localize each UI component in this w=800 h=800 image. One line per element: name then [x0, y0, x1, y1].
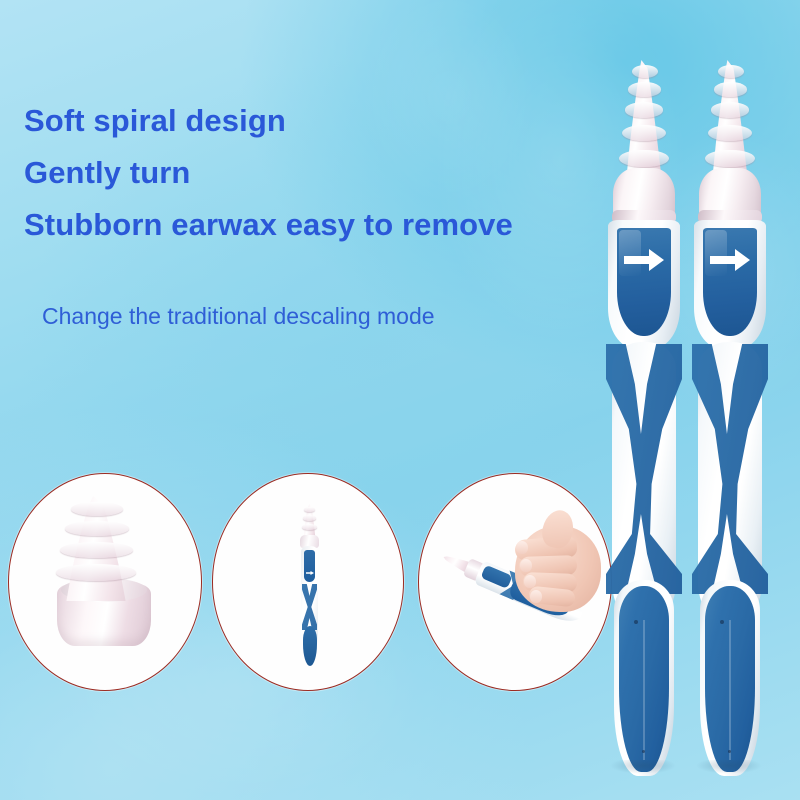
product-unit-left — [598, 60, 690, 760]
headline-block: Soft spiral design Gently turn Stubborn … — [24, 95, 584, 251]
spiral-rib — [56, 564, 136, 581]
tool-drop-shadow — [610, 760, 676, 774]
product-unit-right — [684, 60, 776, 760]
tool-blue-tip — [303, 626, 317, 666]
headline-line-1: Soft spiral design — [24, 95, 584, 147]
right-arrow-icon — [306, 562, 314, 566]
fingernail — [524, 575, 536, 588]
surface-speck — [634, 620, 638, 624]
spiral-rib — [628, 82, 661, 96]
spiral-rib — [71, 502, 123, 516]
inset-photo-hand-holding-tool — [418, 473, 612, 691]
surface-speck — [642, 750, 645, 753]
spiral-rib — [622, 125, 666, 142]
inset-photo-spiral-tip-closeup — [8, 473, 202, 691]
headline-line-3: Stubborn earwax easy to remove — [24, 199, 584, 251]
spiral-tip-icon — [708, 60, 752, 178]
spiral-rib — [65, 521, 129, 536]
spiral-tip-icon — [303, 504, 316, 538]
spiral-rib — [705, 150, 754, 168]
spiral-rib — [718, 65, 744, 78]
spiral-tip-icon — [622, 60, 666, 178]
inset-1-content — [9, 474, 201, 690]
surface-speck — [720, 620, 724, 624]
inset-3-content — [419, 474, 611, 690]
full-tool-illustration — [294, 504, 324, 664]
fingernail — [520, 559, 532, 572]
tool-seam-line — [643, 620, 645, 760]
spiral-rib — [619, 150, 668, 168]
right-arrow-icon — [709, 248, 751, 272]
spiral-rib — [60, 542, 133, 558]
product-poster: Soft spiral design Gently turn Stubborn … — [0, 0, 800, 800]
spiral-tip-icon — [59, 496, 133, 601]
headline-line-2: Gently turn — [24, 147, 584, 199]
fingernail — [530, 590, 542, 603]
spiral-rib — [708, 125, 752, 142]
spiral-rib — [303, 515, 315, 521]
subheadline: Change the traditional descaling mode — [42, 303, 435, 330]
fingernail — [516, 541, 528, 554]
spiral-rib — [714, 82, 747, 96]
spiral-rib — [711, 102, 750, 117]
tool-seam-line — [729, 620, 731, 760]
spiral-rib — [302, 524, 317, 530]
inset-2-content — [213, 474, 403, 690]
tool-drop-shadow — [696, 760, 762, 774]
spiral-rib — [304, 507, 314, 512]
inset-photo-full-tool — [212, 473, 404, 691]
surface-speck — [728, 750, 731, 753]
right-arrow-icon — [623, 248, 665, 272]
spiral-rib — [625, 102, 664, 117]
spiral-rib — [632, 65, 658, 78]
